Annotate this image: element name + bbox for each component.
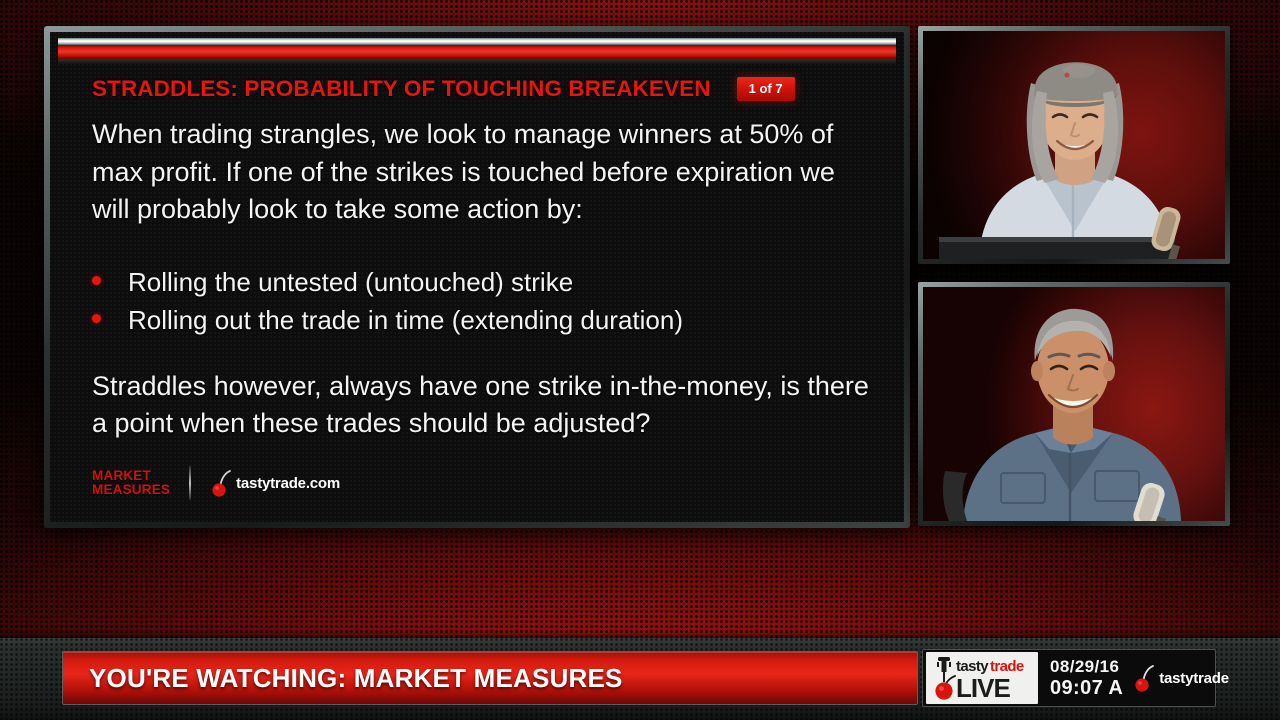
presentation-slide-frame: STRADDLES: PROBABILITY OF TOUCHING BREAK… xyxy=(44,26,910,528)
broadcast-time: 09:07 A xyxy=(1050,677,1123,700)
bullet-list: Rolling the untested (untouched) strike … xyxy=(92,263,876,339)
bullet-label: Rolling the untested (untouched) strike xyxy=(128,263,573,301)
market-measures-logo: MARKET MEASURES xyxy=(92,469,170,498)
accent-red-stripe xyxy=(58,45,896,59)
market-measures-line2: MEASURES xyxy=(92,483,170,498)
host-video-top[interactable] xyxy=(918,26,1230,264)
tastytrade-live-logo: tasty trade LIVE xyxy=(926,652,1038,704)
slide-accent-bar xyxy=(50,32,904,64)
microphone-icon xyxy=(937,657,951,682)
lower-third-banner: YOU'RE WATCHING: MARKET MEASURES xyxy=(0,638,1280,720)
tastytrade-site-text: tastytrade.com xyxy=(236,475,340,492)
bullet-dot-icon xyxy=(92,276,101,285)
list-item: Rolling out the trade in time (extending… xyxy=(92,301,876,339)
host-video-bottom[interactable] xyxy=(918,282,1230,526)
bullet-dot-icon xyxy=(92,314,101,323)
cherry-icon xyxy=(1133,663,1159,693)
host-video-bottom-inner xyxy=(923,287,1225,521)
broadcast-datetime: 08/29/16 09:07 A xyxy=(1050,657,1123,700)
host-figure-top xyxy=(923,31,1225,259)
now-watching-bar: YOU'RE WATCHING: MARKET MEASURES xyxy=(62,651,918,705)
presentation-slide: STRADDLES: PROBABILITY OF TOUCHING BREAK… xyxy=(50,32,904,522)
list-item: Rolling the untested (untouched) strike xyxy=(92,263,876,301)
logo-divider xyxy=(189,466,191,500)
host-figure-bottom xyxy=(923,287,1225,521)
cherry-icon xyxy=(935,676,955,700)
bullet-label: Rolling out the trade in time (extending… xyxy=(128,301,683,339)
tastytrade-corner-text: tastytrade xyxy=(1159,670,1229,687)
accent-silver-stripe xyxy=(58,38,896,45)
slide-body: When trading strangles, we look to manag… xyxy=(50,102,904,443)
slide-title-row: STRADDLES: PROBABILITY OF TOUCHING BREAK… xyxy=(50,64,904,102)
closing-paragraph: Straddles however, always have one strik… xyxy=(92,368,876,443)
slide-footer: MARKET MEASURES tastytrade.com xyxy=(92,466,340,500)
now-watching-text: YOU'RE WATCHING: MARKET MEASURES xyxy=(89,663,623,694)
intro-paragraph: When trading strangles, we look to manag… xyxy=(92,116,876,229)
market-measures-line1: MARKET xyxy=(92,469,170,484)
page-title: STRADDLES: PROBABILITY OF TOUCHING BREAK… xyxy=(92,76,711,102)
cherry-icon xyxy=(210,468,236,498)
tastytrade-site-logo: tastytrade.com xyxy=(210,468,340,498)
broadcast-info-box: tasty trade LIVE 08/29/16 09:07 A xyxy=(922,649,1216,707)
tastytrade-corner-logo: tastytrade xyxy=(1133,663,1229,693)
host-video-top-inner xyxy=(923,31,1225,259)
svg-text:LIVE: LIVE xyxy=(956,673,1010,702)
broadcast-stage: STRADDLES: PROBABILITY OF TOUCHING BREAK… xyxy=(0,0,1280,720)
slide-page-badge: 1 of 7 xyxy=(737,77,795,101)
broadcast-date: 08/29/16 xyxy=(1050,657,1123,677)
